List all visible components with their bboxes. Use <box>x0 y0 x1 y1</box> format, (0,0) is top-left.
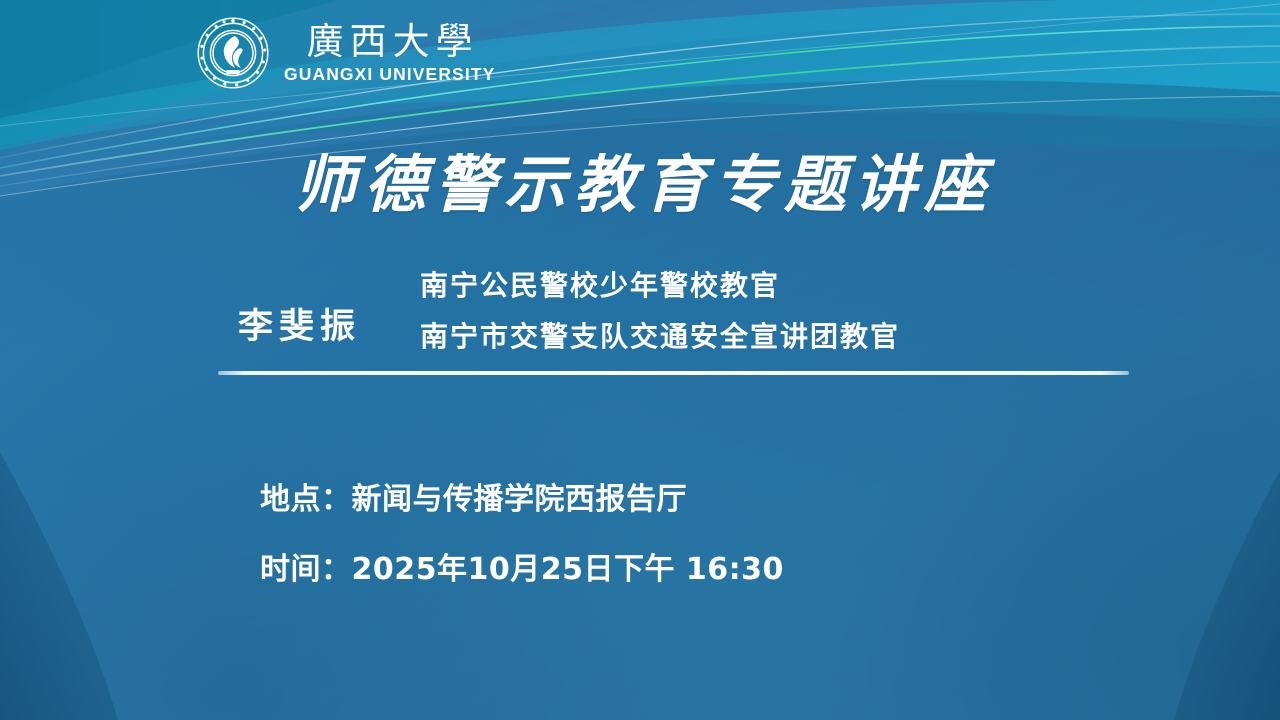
divider <box>218 371 1129 375</box>
university-name-en: GUANGXI UNIVERSITY <box>284 64 495 85</box>
speaker-name: 李斐振 <box>238 298 361 349</box>
guangxi-university-seal-icon <box>196 16 270 90</box>
speaker-title-line-2: 南宁市交警支队交通安全宣讲团教官 <box>420 323 900 351</box>
university-logo: 廣西大學 GUANGXI UNIVERSITY <box>196 16 495 90</box>
event-info: 地点：新闻与传播学院西报告厅 时间：2025年10月25日下午 16:30 <box>260 485 784 585</box>
event-time: 时间：2025年10月25日下午 16:30 <box>260 555 784 585</box>
speaker-titles: 南宁公民警校少年警校教官 南宁市交警支队交通安全宣讲团教官 <box>420 272 900 351</box>
page-title: 师德警示教育专题讲座 <box>0 134 1280 224</box>
speaker-block: 李斐振 南宁公民警校少年警校教官 南宁市交警支队交通安全宣讲团教官 <box>0 272 1280 382</box>
university-logo-text: 廣西大學 GUANGXI UNIVERSITY <box>284 21 495 86</box>
university-name-cn: 廣西大學 <box>301 23 479 62</box>
lecture-poster-slide: 廣西大學 GUANGXI UNIVERSITY 师德警示教育专题讲座 李斐振 南… <box>0 0 1280 720</box>
event-location: 地点：新闻与传播学院西报告厅 <box>260 485 784 515</box>
speaker-title-line-1: 南宁公民警校少年警校教官 <box>420 272 900 300</box>
